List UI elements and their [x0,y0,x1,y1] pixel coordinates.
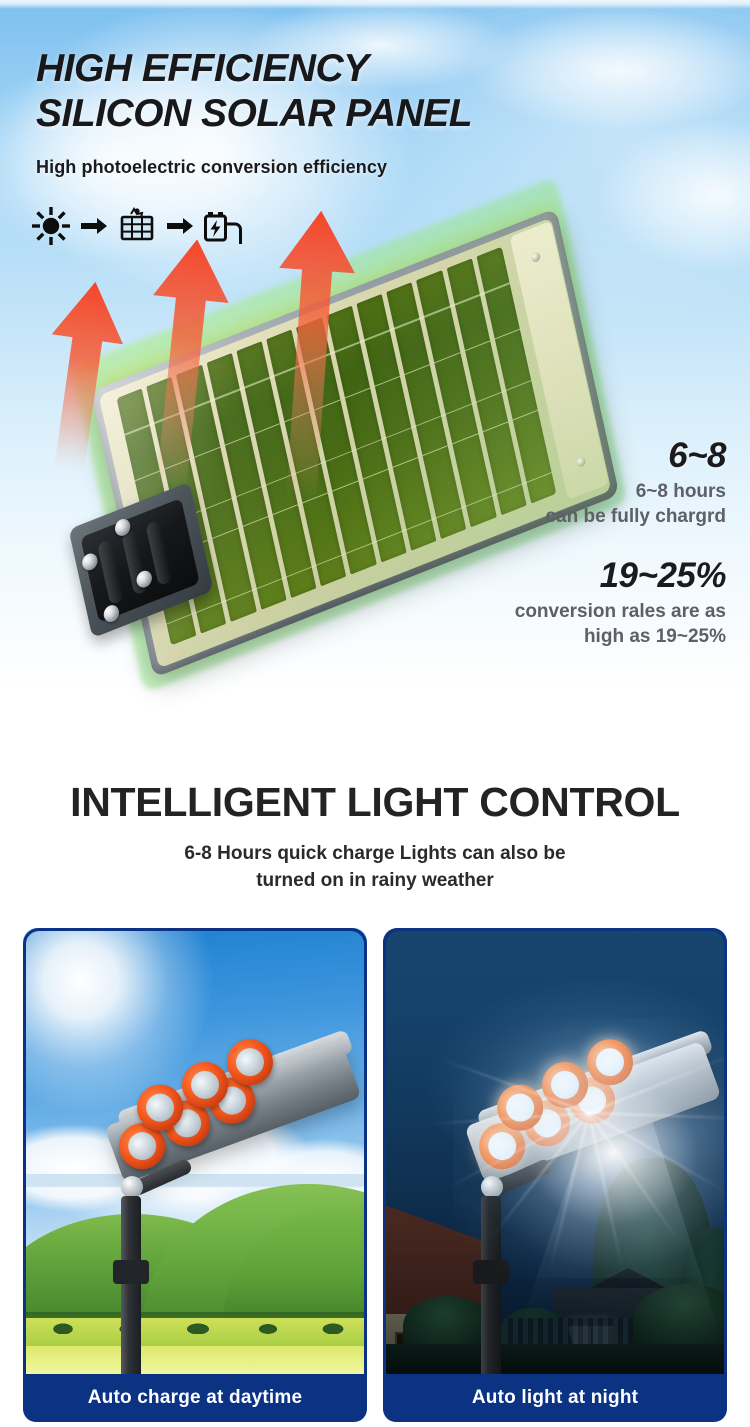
pole-cap [121,1176,143,1198]
stat-conversion-rate: 19~25% conversion rales are as high as 1… [406,555,726,649]
stat-number: 19~25% [406,555,726,597]
card-caption: Auto light at night [383,1374,727,1422]
spec-stats: 6~8 6~8 hours can be fully chargrd 19~25… [406,435,726,649]
street-light-day [85,1020,365,1220]
card-caption: Auto charge at daytime [23,1374,367,1422]
rubber-rib [97,539,125,606]
hero-subtitle: High photoelectric conversion efficiency [36,157,387,178]
stat-description: 6~8 hours can be fully chargrd [406,479,726,529]
stat-charge-time: 6~8 6~8 hours can be fully chargrd [406,435,726,529]
hero-title: HIGH EFFICIENCY SILICON SOLAR PANEL [36,46,472,136]
treeline [23,1320,367,1334]
night-photo [383,928,727,1374]
section2-title: INTELLIGENT LIGHT CONTROL [0,758,750,826]
intelligent-light-control-section: INTELLIGENT LIGHT CONTROL 6-8 Hours quic… [0,740,750,1422]
sky-top-strip [0,0,750,9]
foreground-field [23,1346,367,1374]
lamp-pole [481,1196,501,1374]
flow-arrow-icon [81,217,107,235]
pole-bracket [473,1260,509,1284]
pole-bracket [113,1260,149,1284]
cloud-decoration [600,120,750,270]
card-auto-light-night[interactable]: Auto light at night [383,928,727,1422]
card-auto-charge-daytime[interactable]: Auto charge at daytime [23,928,367,1422]
solar-panel-icon [116,205,158,247]
stat-description: conversion rales are as high as 19~25% [406,599,726,649]
hero-section: HIGH EFFICIENCY SILICON SOLAR PANEL High… [0,0,750,740]
lamp-pole [121,1196,141,1374]
flow-arrow-icon [167,217,193,235]
panel-screw [531,251,541,263]
stat-number: 6~8 [406,435,726,477]
led-array [104,1041,361,1184]
section2-subtitle: 6-8 Hours quick charge Lights can also b… [0,840,750,894]
cloud-decoration [470,10,750,130]
sun-icon [30,205,72,247]
feature-cards: Auto charge at daytime [0,894,750,1422]
pole-cap [481,1176,503,1198]
daytime-photo [23,928,367,1374]
